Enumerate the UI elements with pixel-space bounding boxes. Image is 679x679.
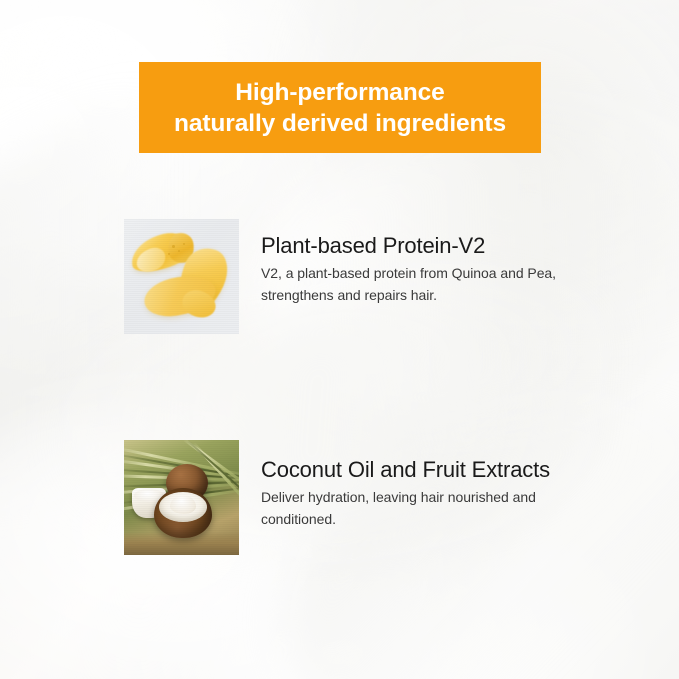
- plant-protein-swatch-image: [124, 219, 239, 334]
- honey-speck: [183, 243, 185, 245]
- ingredient-description: V2, a plant-based protein from Quinoa an…: [261, 263, 606, 306]
- ingredient-copy: Coconut Oil and Fruit Extracts Deliver h…: [261, 440, 606, 530]
- ingredients-infographic: High-performance naturally derived ingre…: [0, 0, 679, 679]
- ingredient-copy: Plant-based Protein-V2 V2, a plant-based…: [261, 219, 606, 306]
- ingredient-title: Plant-based Protein-V2: [261, 232, 606, 259]
- coconut-oil-image: [124, 440, 239, 555]
- honey-speck: [168, 253, 170, 255]
- ingredient-row: Plant-based Protein-V2 V2, a plant-based…: [124, 219, 606, 334]
- honey-speck: [178, 250, 180, 252]
- headline-banner: High-performance naturally derived ingre…: [139, 62, 541, 153]
- headline-text: High-performance naturally derived ingre…: [174, 77, 506, 139]
- coconut-half: [154, 488, 212, 538]
- ingredient-description: Deliver hydration, leaving hair nourishe…: [261, 487, 606, 530]
- honey-speck: [172, 245, 175, 248]
- ingredient-row: Coconut Oil and Fruit Extracts Deliver h…: [124, 440, 606, 555]
- coconut-cream: [170, 495, 196, 514]
- ingredient-title: Coconut Oil and Fruit Extracts: [261, 456, 606, 483]
